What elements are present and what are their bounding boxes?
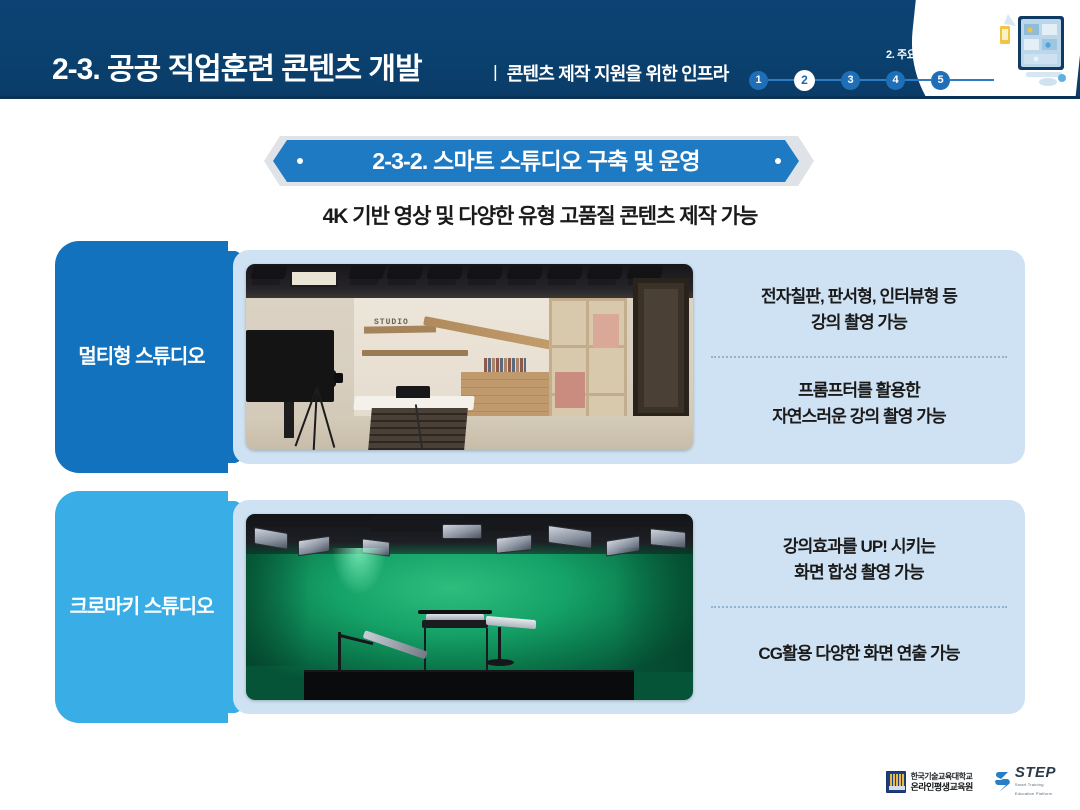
subtitle-text: 콘텐츠 제작 지원을 위한 인프라 bbox=[507, 64, 729, 84]
content-row-chroma-studio: 크로마키 스튜디오 bbox=[55, 491, 1025, 723]
step-connector-tail bbox=[950, 79, 994, 81]
step-4[interactable]: 4 bbox=[886, 71, 905, 90]
page-title: 2-3. 공공 직업훈련 콘텐츠 개발 bbox=[52, 52, 422, 88]
ceiling-lamp-icon bbox=[250, 266, 288, 279]
cyclorama-shadow-right bbox=[615, 548, 693, 672]
row-panel-chroma-studio: 강의효과를 UP! 시키는 화면 합성 촬영 가능 CG활용 다양한 화면 연출… bbox=[233, 500, 1025, 714]
row-label-chroma-studio: 크로마키 스튜디오 bbox=[55, 491, 228, 723]
banner-inner-shape: 2-3-2. 스마트 스튜디오 구축 및 운영 bbox=[273, 140, 799, 182]
wall-display-frame-inner bbox=[644, 289, 678, 407]
studio-light-panel bbox=[442, 524, 482, 539]
desk-laptop bbox=[396, 386, 430, 398]
bullet-text: 프롬프터를 활용한 자연스러운 강의 촬영 가능 bbox=[707, 358, 1011, 450]
koreatech-line2: 온라인평생교육원 bbox=[911, 782, 973, 792]
banner-dot-left-icon bbox=[297, 158, 303, 164]
content-row-multi-studio: 멀티형 스튜디오 bbox=[55, 241, 1025, 473]
row-panel-multi-studio: STUDIO bbox=[233, 250, 1025, 464]
photo-multi-studio-scene: STUDIO bbox=[246, 264, 693, 450]
table-leg bbox=[486, 628, 488, 676]
footer-logos: 한국기술교육대학교 온라인평생교육원 STEP Smart Training E… bbox=[886, 765, 1056, 798]
logo-step: STEP Smart Training Education Platform bbox=[995, 765, 1056, 798]
step-connector-3 bbox=[860, 79, 886, 81]
lead-statement: 4K 기반 영상 및 다양한 유형 고품질 콘텐츠 제작 가능 bbox=[0, 200, 1080, 230]
bullet-text: 강의효과를 UP! 시키는 화면 합성 촬영 가능 bbox=[707, 514, 1011, 606]
studio-light-panel bbox=[650, 528, 686, 549]
camera-tripod bbox=[292, 370, 348, 450]
step-connector-1 bbox=[768, 79, 794, 81]
shelf-accent-box bbox=[593, 314, 619, 348]
stage-front-edge bbox=[304, 670, 634, 700]
ceiling-softbox-light bbox=[290, 270, 338, 287]
slide-root: 2-3. 공공 직업훈련 콘텐츠 개발 ㅣ콘텐츠 제작 지원을 위한 인프라 2… bbox=[0, 0, 1080, 810]
koreatech-wordmark: 한국기술교육대학교 온라인평생교육원 bbox=[911, 772, 973, 792]
photo-chroma-studio bbox=[246, 514, 693, 700]
chair-post bbox=[498, 627, 501, 661]
shelf-accent-box bbox=[555, 372, 585, 408]
ceiling-lamp-icon bbox=[348, 266, 386, 279]
logo-koreatech: 한국기술교육대학교 온라인평생교육원 bbox=[886, 771, 973, 793]
bullet-text: CG활용 다양한 화면 연출 가능 bbox=[707, 608, 1011, 700]
step-connector-4 bbox=[905, 79, 931, 81]
video-camera-icon bbox=[298, 370, 336, 387]
row-label-multi-studio: 멀티형 스튜디오 bbox=[55, 241, 228, 473]
ceiling-lamp-icon bbox=[386, 266, 424, 279]
studio-wall-sign: STUDIO bbox=[374, 318, 409, 327]
bullet-text: 전자칠판, 판서형, 인터뷰형 등 강의 촬영 가능 bbox=[707, 264, 1011, 356]
step-3[interactable]: 3 bbox=[841, 71, 860, 90]
step-1[interactable]: 1 bbox=[749, 71, 768, 90]
ceiling-lamp-icon bbox=[546, 266, 584, 279]
side-table bbox=[486, 616, 536, 629]
section-banner: 2-3-2. 스마트 스튜디오 구축 및 운영 bbox=[264, 136, 814, 186]
photo-multi-studio: STUDIO bbox=[246, 264, 693, 450]
row-bullets-chroma-studio: 강의효과를 UP! 시키는 화면 합성 촬영 가능 CG활용 다양한 화면 연출… bbox=[693, 514, 1025, 700]
section-label: 2. 주요사업 소개 bbox=[886, 46, 958, 62]
step-subline2: Education Platform bbox=[1015, 789, 1056, 798]
ceiling-lamp-icon bbox=[466, 266, 504, 279]
studio-table-frame bbox=[422, 620, 488, 628]
step-2[interactable]: 2 bbox=[794, 70, 815, 91]
subtitle-divider: ㅣ bbox=[487, 64, 503, 84]
koreatech-line1: 한국기술교육대학교 bbox=[911, 772, 973, 782]
koreatech-emblem-icon bbox=[886, 771, 906, 793]
light-spill-glow bbox=[332, 548, 386, 594]
banner-title: 2-3-2. 스마트 스튜디오 구축 및 운영 bbox=[372, 150, 700, 173]
slide-header: 2-3. 공공 직업훈련 콘텐츠 개발 ㅣ콘텐츠 제작 지원을 위한 인프라 2… bbox=[0, 0, 1080, 99]
wall-display-frame bbox=[633, 278, 689, 418]
step-subline1: Smart Training bbox=[1015, 780, 1056, 789]
step-connector-2 bbox=[815, 79, 841, 81]
cyclorama-shadow-left bbox=[246, 548, 310, 666]
step-5[interactable]: 5 bbox=[931, 71, 950, 90]
step-symbol-icon bbox=[995, 771, 1011, 793]
ceiling-lamp-icon bbox=[506, 266, 544, 279]
step-title: STEP bbox=[1015, 765, 1056, 780]
page-subtitle: ㅣ콘텐츠 제작 지원을 위한 인프라 bbox=[487, 62, 728, 86]
photo-chroma-studio-scene bbox=[246, 514, 693, 700]
step-indicator: 1 2 3 4 5 bbox=[749, 70, 994, 90]
wall-shelf-lower bbox=[362, 350, 468, 356]
step-wordmark: STEP Smart Training Education Platform bbox=[1015, 765, 1056, 798]
tripod-leg bbox=[316, 387, 335, 448]
ceiling-lamp-icon bbox=[426, 266, 464, 279]
row-bullets-multi-studio: 전자칠판, 판서형, 인터뷰형 등 강의 촬영 가능 프롬프터를 활용한 자연스… bbox=[693, 264, 1025, 450]
banner-dot-right-icon bbox=[775, 158, 781, 164]
chair-base bbox=[486, 659, 514, 666]
ceiling-lamp-icon bbox=[586, 266, 624, 279]
rig-light-housing bbox=[484, 518, 556, 531]
